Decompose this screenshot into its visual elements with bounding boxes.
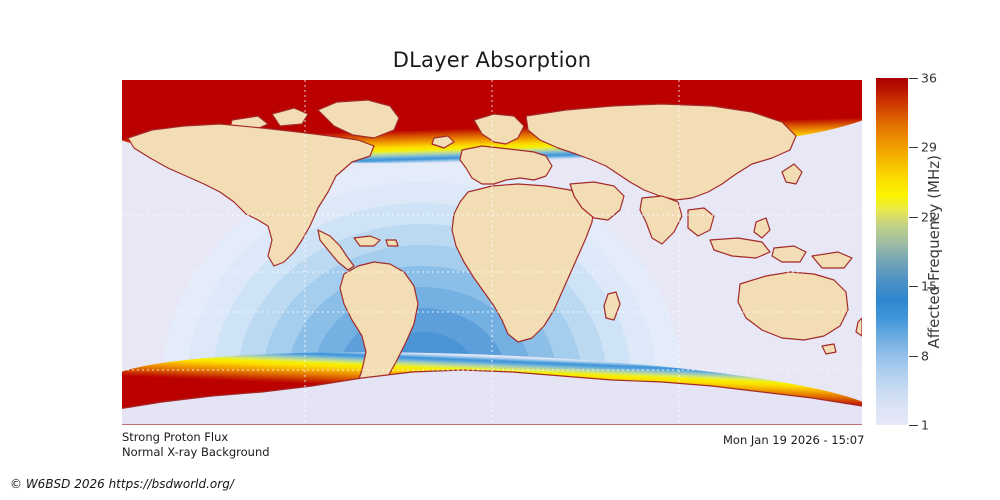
copyright-notice: © W6BSD 2026 https://bsdworld.org/ xyxy=(10,477,234,491)
colorbar-tick-8 xyxy=(909,356,918,357)
coastline-overlay xyxy=(122,80,862,425)
colorbar-tick-22 xyxy=(909,217,918,218)
colorbar-axis-title-text: Affected Frequency (MHz) xyxy=(925,155,943,349)
colorbar: 36 29 22 15 8 1 xyxy=(876,78,908,425)
timestamp: Mon Jan 19 2026 - 15:07 xyxy=(723,433,864,447)
colorbar-axis-title: Affected Frequency (MHz) xyxy=(922,78,946,425)
colorbar-tick-29 xyxy=(909,147,918,148)
colorbar-tick-36 xyxy=(909,78,918,79)
colorbar-tick-15 xyxy=(909,286,918,287)
proton-flux-status: Strong Proton Flux xyxy=(122,430,228,444)
figure-root: DLayer Absorption xyxy=(0,0,1000,500)
colorbar-tick-1 xyxy=(909,425,918,426)
page-title: DLayer Absorption xyxy=(0,48,984,72)
colorbar-gradient xyxy=(876,78,908,425)
world-map xyxy=(122,80,862,425)
xray-background-status: Normal X-ray Background xyxy=(122,445,270,459)
